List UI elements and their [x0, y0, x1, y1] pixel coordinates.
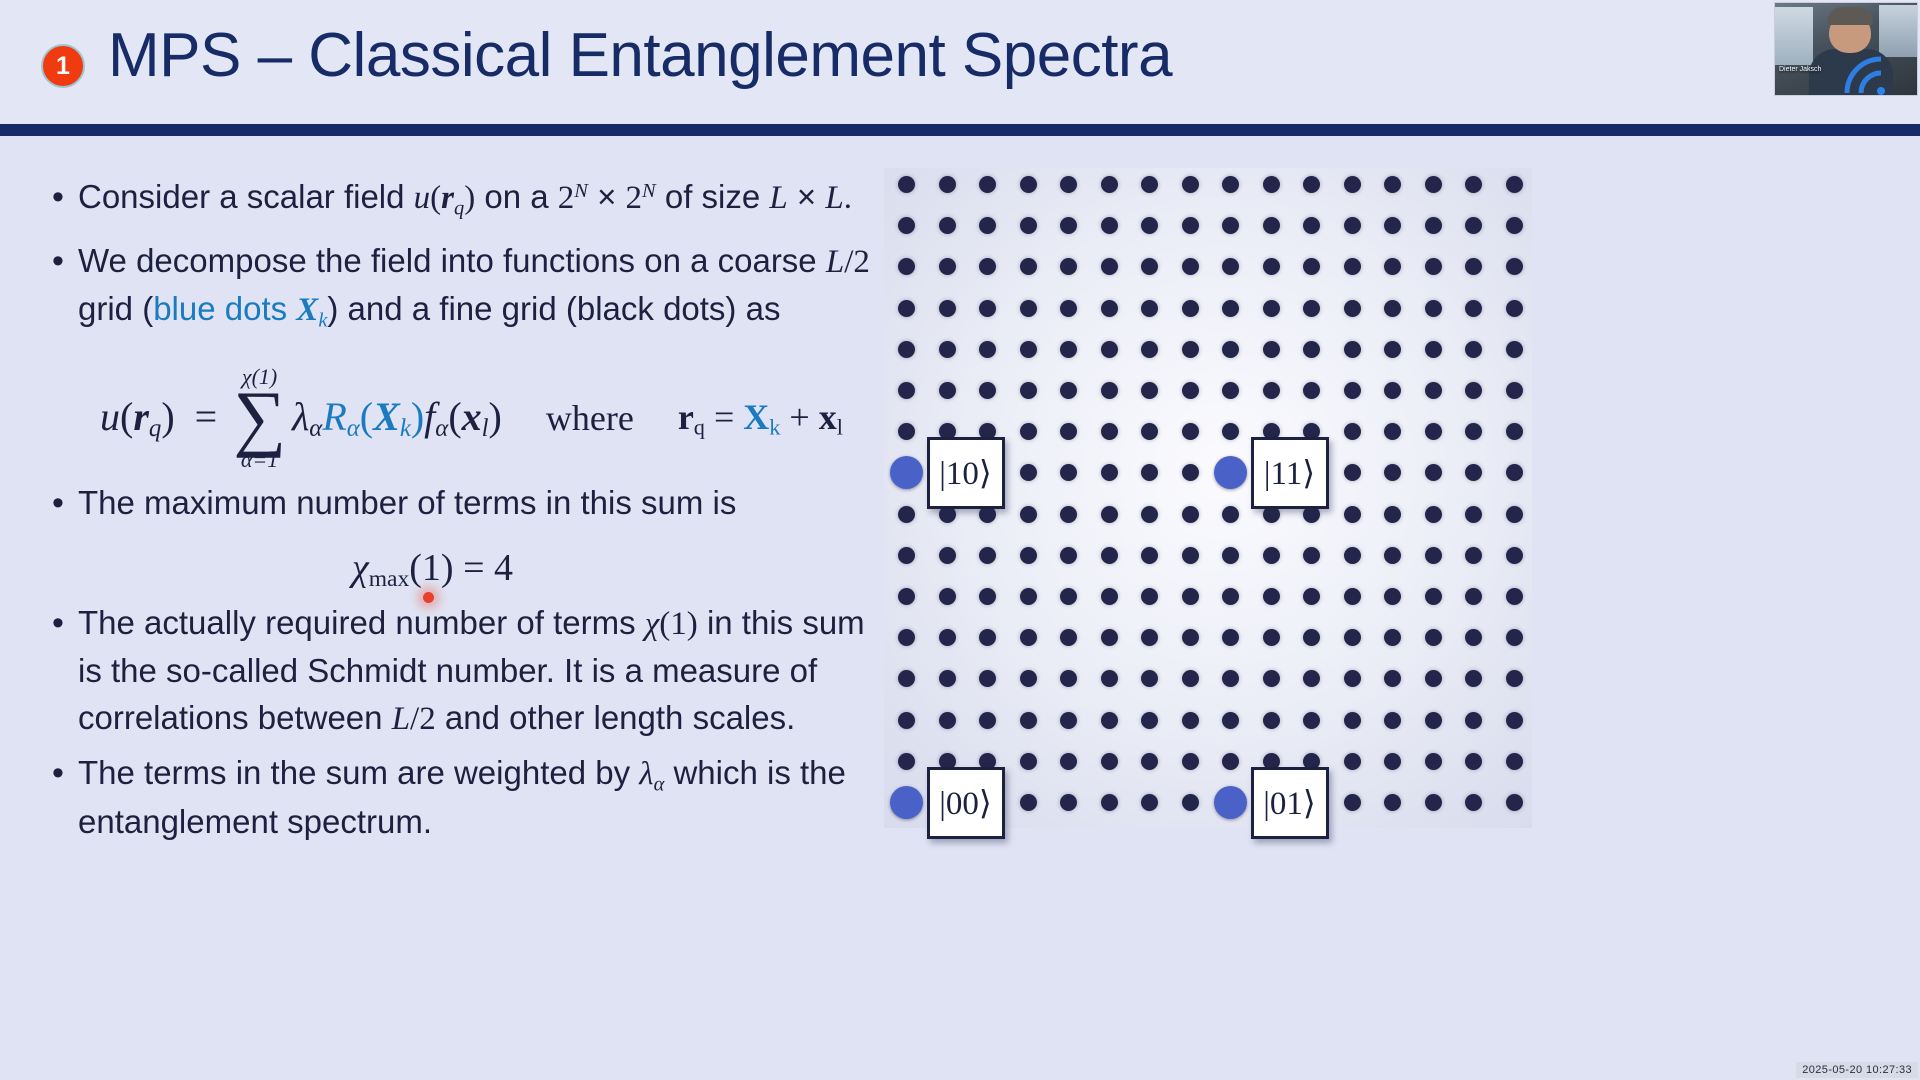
grid-dot [1425, 794, 1442, 811]
grid-dot [1060, 176, 1077, 193]
grid-dot [1222, 629, 1239, 646]
grid-dot [1344, 506, 1361, 523]
grid-dot [1222, 300, 1239, 317]
grid-dot [1425, 712, 1442, 729]
equation-body: λαRα(Xk)fα(xl) [292, 393, 502, 443]
webcam-tile[interactable]: Dieter Jaksch [1774, 2, 1918, 96]
grid-dot [1506, 670, 1523, 687]
grid-dot [1141, 341, 1158, 358]
bullet-schmidt-number-text: The actually required number of terms χ(… [78, 600, 865, 743]
grid-dot [1465, 547, 1482, 564]
grid-dot [1141, 670, 1158, 687]
grid-dot [1101, 341, 1118, 358]
equation-lhs: u(rq) = [100, 393, 227, 443]
bullet-marker: • [52, 174, 78, 223]
grid-dot [1303, 300, 1320, 317]
grid-dot [1506, 794, 1523, 811]
grid-dot [939, 258, 956, 275]
grid-dot [1141, 217, 1158, 234]
grid-dot [1060, 217, 1077, 234]
grid-dot [1344, 547, 1361, 564]
grid-dot [1222, 341, 1239, 358]
grid-dot [979, 670, 996, 687]
grid-dot [1020, 464, 1037, 481]
grid-dot [1425, 670, 1442, 687]
grid-dot [1182, 506, 1199, 523]
grid-dot [1425, 547, 1442, 564]
grid-dot [1182, 712, 1199, 729]
grid-dot [1182, 753, 1199, 770]
grid-dot [1263, 217, 1280, 234]
grid-dot [1020, 382, 1037, 399]
grid-dot [1182, 794, 1199, 811]
grid-dot [1425, 506, 1442, 523]
chi-value: 4 [494, 547, 513, 589]
grid-dot [898, 506, 915, 523]
grid-dot [1465, 588, 1482, 605]
grid-dot [1384, 258, 1401, 275]
grid-dot [898, 753, 915, 770]
grid-dot [1101, 300, 1118, 317]
grid-dot [898, 382, 915, 399]
grid-dot [1101, 382, 1118, 399]
bullet-weights: • The terms in the sum are weighted by λ… [52, 750, 932, 846]
coarse-fine-grid-diagram: |10⟩|11⟩|00⟩|01⟩ [884, 168, 1532, 828]
chi-symbol: χ [352, 547, 369, 589]
grid-dot [979, 341, 996, 358]
grid-dot [1020, 176, 1037, 193]
ket-label-box: |10⟩ [927, 437, 1005, 509]
grid-dot [1384, 423, 1401, 440]
grid-dot [939, 176, 956, 193]
zoom-logo [1841, 53, 1915, 95]
grid-dot [1425, 588, 1442, 605]
grid-dot [979, 176, 996, 193]
grid-dot [1303, 258, 1320, 275]
grid-dot [1060, 464, 1077, 481]
grid-dot [1303, 588, 1320, 605]
grid-dot [1263, 258, 1280, 275]
grid-dot [1465, 300, 1482, 317]
grid-dot [1506, 258, 1523, 275]
grid-dot [1344, 712, 1361, 729]
bullet-marker: • [52, 750, 78, 846]
grid-dot [939, 217, 956, 234]
grid-dot [1384, 794, 1401, 811]
grid-dot [1182, 464, 1199, 481]
chi-subscript: max [369, 566, 410, 592]
equation-where-label: where [546, 397, 634, 439]
grid-dot [1465, 670, 1482, 687]
grid-dot [1465, 712, 1482, 729]
grid-dot [1465, 341, 1482, 358]
grid-dot [939, 629, 956, 646]
grid-dot [1263, 712, 1280, 729]
grid-dot [1465, 423, 1482, 440]
grid-dot [979, 300, 996, 317]
grid-dot [1344, 341, 1361, 358]
grid-dot [1141, 753, 1158, 770]
grid-dot [1425, 217, 1442, 234]
grid-dot [1506, 547, 1523, 564]
grid-dot [1141, 382, 1158, 399]
summation-symbol: χ(1) ∑ α=1 [233, 366, 286, 471]
grid-dot [1344, 382, 1361, 399]
grid-dot [1465, 217, 1482, 234]
grid-dot [1344, 629, 1361, 646]
grid-dot [1465, 753, 1482, 770]
grid-dot [939, 382, 956, 399]
grid-dot [1384, 464, 1401, 481]
grid-dot [898, 258, 915, 275]
grid-dot [1101, 670, 1118, 687]
ket-label-box: |00⟩ [927, 767, 1005, 839]
grid-dot [939, 670, 956, 687]
grid-dot [1344, 217, 1361, 234]
grid-dot [939, 712, 956, 729]
dot-grid: |10⟩|11⟩|00⟩|01⟩ [884, 168, 1532, 828]
grid-dot [1384, 506, 1401, 523]
grid-dot [1141, 300, 1158, 317]
grid-dot [1060, 794, 1077, 811]
grid-dot [1222, 506, 1239, 523]
grid-dot [1060, 588, 1077, 605]
grid-dot [1344, 300, 1361, 317]
grid-dot [1020, 423, 1037, 440]
grid-dot [1425, 176, 1442, 193]
grid-dot [1303, 547, 1320, 564]
grid-dot [1384, 712, 1401, 729]
grid-dot [1101, 423, 1118, 440]
header-divider [0, 124, 1920, 136]
grid-dot [1222, 258, 1239, 275]
grid-dot [1384, 547, 1401, 564]
grid-dot [1101, 712, 1118, 729]
grid-dot [1344, 794, 1361, 811]
grid-dot [1222, 423, 1239, 440]
grid-dot [1222, 712, 1239, 729]
grid-dot [1020, 753, 1037, 770]
bullet-scalar-field: • Consider a scalar field u(rq) on a 2N … [52, 174, 912, 223]
blue-coarse-dot [890, 456, 923, 489]
grid-dot [1425, 464, 1442, 481]
grid-dot [1101, 464, 1118, 481]
grid-dot [1344, 258, 1361, 275]
grid-dot [1425, 423, 1442, 440]
window-light-left [1775, 7, 1813, 65]
grid-dot [1263, 547, 1280, 564]
grid-dot [1303, 670, 1320, 687]
slide-number-badge: 1 [41, 44, 85, 88]
grid-dot [1506, 629, 1523, 646]
grid-dot [1384, 629, 1401, 646]
grid-dot [1465, 176, 1482, 193]
grid-dot [1263, 670, 1280, 687]
grid-dot [1020, 258, 1037, 275]
grid-dot [1182, 382, 1199, 399]
grid-dot [1506, 300, 1523, 317]
grid-dot [939, 300, 956, 317]
grid-dot [1060, 670, 1077, 687]
grid-dot [1020, 300, 1037, 317]
slide-header: 1 MPS – Classical Entanglement Spectra [0, 0, 1920, 124]
grid-dot [898, 712, 915, 729]
grid-dot [1465, 258, 1482, 275]
grid-dot [979, 258, 996, 275]
grid-dot [1465, 629, 1482, 646]
grid-dot [1344, 176, 1361, 193]
bullet-maximum-terms: • The maximum number of terms in this su… [52, 480, 912, 527]
grid-dot [1506, 588, 1523, 605]
grid-dot [898, 547, 915, 564]
speaker-hair [1827, 7, 1873, 25]
grid-dot [1060, 547, 1077, 564]
grid-dot [1425, 258, 1442, 275]
grid-dot [1101, 547, 1118, 564]
grid-dot [1344, 464, 1361, 481]
grid-dot [1141, 506, 1158, 523]
grid-dot [1263, 629, 1280, 646]
timestamp-overlay: 2025-05-20 10:27:33 [1796, 1062, 1918, 1078]
grid-dot [1465, 506, 1482, 523]
bullet-marker: • [52, 600, 78, 743]
grid-dot [979, 712, 996, 729]
grid-dot [1425, 753, 1442, 770]
grid-dot [898, 176, 915, 193]
grid-dot [1506, 382, 1523, 399]
grid-dot [1141, 423, 1158, 440]
grid-dot [1344, 753, 1361, 770]
grid-dot [1425, 300, 1442, 317]
grid-dot [1303, 176, 1320, 193]
grid-dot [1020, 588, 1037, 605]
grid-dot [1060, 382, 1077, 399]
grid-dot [1506, 506, 1523, 523]
grid-dot [1182, 258, 1199, 275]
bullet-scalar-field-text: Consider a scalar field u(rq) on a 2N × … [78, 174, 852, 223]
grid-dot [1060, 753, 1077, 770]
equation-chi-max: χmax(1) = 4 [352, 546, 513, 593]
grid-dot [1101, 176, 1118, 193]
bullet-maximum-terms-text: The maximum number of terms in this sum … [78, 480, 736, 527]
grid-dot [1060, 423, 1077, 440]
blue-coarse-dot [890, 786, 923, 819]
grid-dot [1020, 217, 1037, 234]
grid-dot [898, 588, 915, 605]
grid-dot [1141, 176, 1158, 193]
chi-equals: = [463, 547, 484, 589]
grid-dot [1222, 547, 1239, 564]
grid-dot [1141, 794, 1158, 811]
grid-dot [898, 629, 915, 646]
grid-dot [1465, 464, 1482, 481]
grid-dot [1344, 670, 1361, 687]
grid-dot [939, 547, 956, 564]
grid-dot [1060, 712, 1077, 729]
grid-dot [1141, 712, 1158, 729]
grid-dot [1222, 176, 1239, 193]
grid-dot [1060, 629, 1077, 646]
grid-dot [898, 300, 915, 317]
grid-dot [1384, 382, 1401, 399]
blue-coarse-dot [1214, 456, 1247, 489]
grid-dot [1263, 176, 1280, 193]
grid-dot [1303, 341, 1320, 358]
page-title: MPS – Classical Entanglement Spectra [108, 20, 1172, 91]
grid-dot [1060, 258, 1077, 275]
grid-dot [1141, 629, 1158, 646]
grid-dot [979, 629, 996, 646]
grid-dot [1020, 712, 1037, 729]
grid-dot [898, 341, 915, 358]
grid-dot [1182, 217, 1199, 234]
grid-dot [1506, 753, 1523, 770]
slide-canvas: 1 MPS – Classical Entanglement Spectra •… [0, 0, 1920, 1080]
grid-dot [1060, 300, 1077, 317]
grid-dot [1425, 382, 1442, 399]
grid-dot [1141, 588, 1158, 605]
grid-dot [1303, 382, 1320, 399]
grid-dot [898, 670, 915, 687]
grid-dot [1506, 464, 1523, 481]
bullet-decompose: • We decompose the field into functions … [52, 238, 872, 335]
grid-dot [1344, 588, 1361, 605]
grid-dot [1101, 258, 1118, 275]
chi-argument: (1) [409, 547, 453, 589]
grid-dot [1020, 794, 1037, 811]
equation-rq-relation: rq = Xk + xl [678, 396, 843, 441]
grid-dot [1384, 588, 1401, 605]
grid-dot [1141, 547, 1158, 564]
grid-dot [1263, 382, 1280, 399]
grid-dot [1344, 423, 1361, 440]
bullet-decompose-text: We decompose the field into functions on… [78, 238, 870, 335]
grid-dot [1020, 341, 1037, 358]
grid-dot [1141, 464, 1158, 481]
grid-dot [1020, 506, 1037, 523]
grid-dot [1263, 300, 1280, 317]
grid-dot [1425, 629, 1442, 646]
grid-dot [939, 588, 956, 605]
ket-label-box: |01⟩ [1251, 767, 1329, 839]
grid-dot [1101, 753, 1118, 770]
ket-label-box: |11⟩ [1251, 437, 1329, 509]
grid-dot [1263, 341, 1280, 358]
grid-dot [1506, 341, 1523, 358]
grid-dot [1384, 176, 1401, 193]
grid-dot [1182, 588, 1199, 605]
bullet-marker: • [52, 238, 78, 335]
grid-dot [898, 423, 915, 440]
grid-dot [979, 382, 996, 399]
grid-dot [1101, 588, 1118, 605]
grid-dot [1182, 423, 1199, 440]
grid-dot [1506, 712, 1523, 729]
grid-dot [1182, 670, 1199, 687]
grid-dot [1222, 670, 1239, 687]
grid-dot [1101, 629, 1118, 646]
grid-dot [979, 547, 996, 564]
webcam-name-label: Dieter Jaksch [1779, 66, 1821, 73]
grid-dot [979, 588, 996, 605]
grid-dot [1263, 588, 1280, 605]
grid-dot [1101, 794, 1118, 811]
grid-dot [1101, 217, 1118, 234]
bullet-schmidt-number: • The actually required number of terms … [52, 600, 932, 743]
grid-dot [1182, 547, 1199, 564]
grid-dot [1182, 300, 1199, 317]
grid-dot [1465, 794, 1482, 811]
grid-dot [1303, 217, 1320, 234]
grid-dot [1222, 753, 1239, 770]
sum-lower-limit: α=1 [241, 449, 278, 471]
bullet-marker: • [52, 480, 78, 527]
sigma-glyph: ∑ [233, 388, 286, 449]
grid-dot [1384, 341, 1401, 358]
grid-dot [1465, 382, 1482, 399]
grid-dot [1182, 629, 1199, 646]
grid-dot [1506, 217, 1523, 234]
grid-dot [1060, 506, 1077, 523]
grid-dot [1020, 629, 1037, 646]
grid-dot [1060, 341, 1077, 358]
grid-dot [1182, 176, 1199, 193]
equation-decomposition: u(rq) = χ(1) ∑ α=1 λαRα(Xk)fα(xl) where … [100, 366, 843, 471]
grid-dot [1101, 506, 1118, 523]
grid-dot [1506, 423, 1523, 440]
grid-dot [1384, 217, 1401, 234]
blue-coarse-dot [1214, 786, 1247, 819]
grid-dot [1384, 300, 1401, 317]
grid-dot [1141, 258, 1158, 275]
grid-dot [1020, 547, 1037, 564]
grid-dot [1425, 341, 1442, 358]
grid-dot [1020, 670, 1037, 687]
grid-dot [1222, 217, 1239, 234]
grid-dot [1506, 176, 1523, 193]
grid-dot [1303, 712, 1320, 729]
grid-dot [939, 341, 956, 358]
grid-dot [1384, 670, 1401, 687]
grid-dot [979, 217, 996, 234]
grid-dot [1182, 341, 1199, 358]
grid-dot [898, 217, 915, 234]
window-light-right [1879, 5, 1917, 57]
bullet-weights-text: The terms in the sum are weighted by λα … [78, 750, 846, 846]
grid-dot [1384, 753, 1401, 770]
grid-dot [1222, 588, 1239, 605]
grid-dot [1222, 382, 1239, 399]
grid-dot [1303, 629, 1320, 646]
